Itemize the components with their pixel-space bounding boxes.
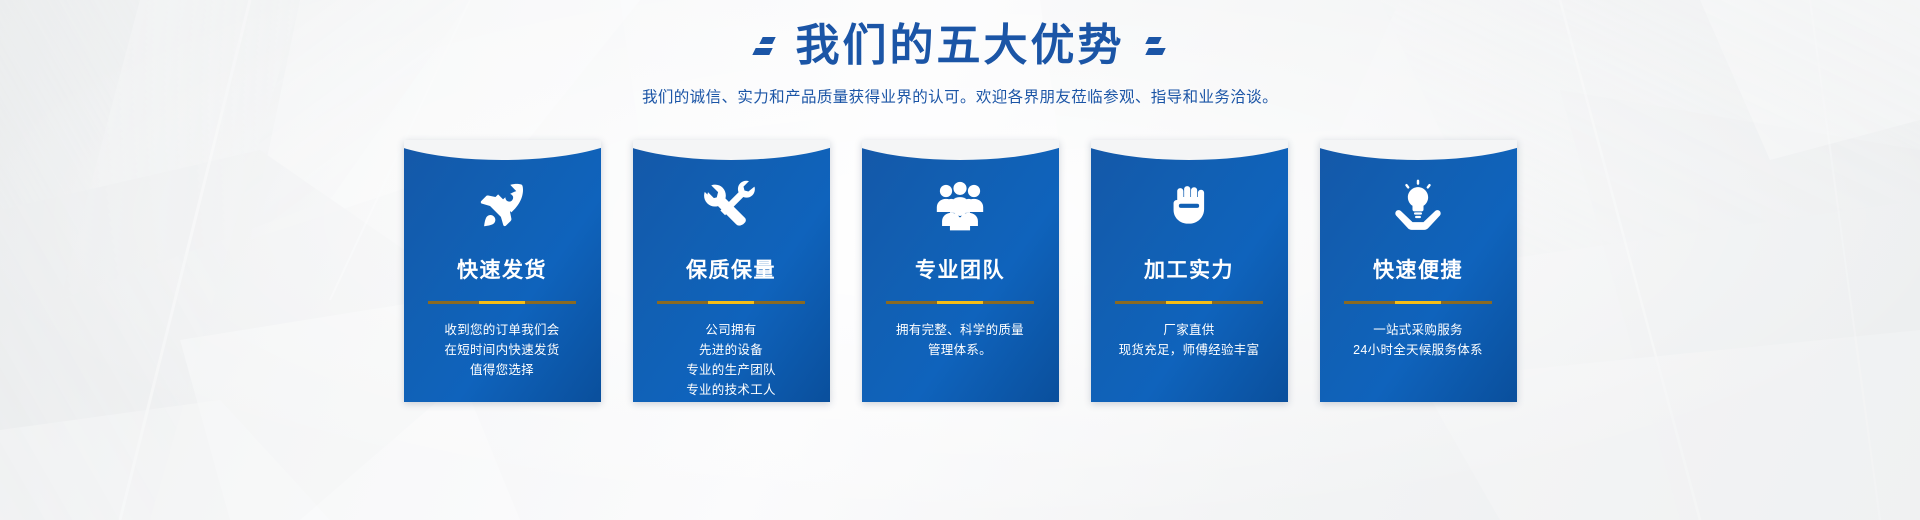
card-description-line: 专业的技术工人 [686,380,776,400]
advantage-card-list: 快速发货 收到您的订单我们会 在短时间内快速发货 值得您选择 [0,140,1920,402]
card-description-line: 在短时间内快速发货 [444,340,559,360]
double-slash-icon [1147,37,1167,55]
advantage-card-professional-team[interactable]: 专业团队 拥有完整、科学的质量 管理体系。 [862,140,1059,402]
card-description-line: 厂家直供 [1119,320,1260,340]
advantage-card-processing-strength[interactable]: 加工实力 厂家直供 现货充足，师傅经验丰富 [1091,140,1288,402]
card-description: 厂家直供 现货充足，师傅经验丰富 [1119,320,1260,360]
card-divider [428,301,576,304]
card-description-line: 专业的生产团队 [686,360,776,380]
card-title: 专业团队 [915,254,1005,284]
fist-hand-icon [1160,176,1218,234]
card-title: 加工实力 [1144,254,1234,284]
card-divider [657,301,805,304]
title-row: 我们的五大优势 [0,0,1920,73]
team-people-icon [931,176,989,234]
card-description-line: 管理体系。 [896,340,1024,360]
advantage-card-quality-assurance[interactable]: 保质保量 公司拥有 先进的设备 专业的生产团队 专业的技术工人 [633,140,830,402]
card-description-line: 先进的设备 [686,340,776,360]
card-title: 保质保量 [686,254,776,284]
card-description-line: 收到您的订单我们会 [444,320,559,340]
card-divider [1344,301,1492,304]
page-title: 我们的五大优势 [796,18,1125,73]
header: 我们的五大优势 我们的诚信、实力和产品质量获得业界的认可。欢迎各界朋友莅临参观、… [0,0,1920,107]
card-divider [1115,301,1263,304]
card-title: 快速便捷 [1373,254,1463,284]
card-description-line: 24小时全天候服务体系 [1353,340,1483,360]
wrench-screwdriver-icon [702,176,760,234]
double-slash-icon [754,37,774,55]
rocket-icon [473,176,531,234]
advantage-card-fast-shipping[interactable]: 快速发货 收到您的订单我们会 在短时间内快速发货 值得您选择 [404,140,601,402]
hands-lightbulb-icon [1389,176,1447,234]
card-description-line: 拥有完整、科学的质量 [896,320,1024,340]
card-description: 一站式采购服务 24小时全天候服务体系 [1353,320,1483,360]
card-description-line: 公司拥有 [686,320,776,340]
card-title: 快速发货 [457,254,547,284]
card-description: 收到您的订单我们会 在短时间内快速发货 值得您选择 [444,320,559,380]
card-top-notch [633,140,830,160]
card-description: 拥有完整、科学的质量 管理体系。 [896,320,1024,360]
page-subtitle: 我们的诚信、实力和产品质量获得业界的认可。欢迎各界朋友莅临参观、指导和业务洽谈。 [0,85,1920,107]
card-description-line: 现货充足，师傅经验丰富 [1119,340,1260,360]
card-divider [886,301,1034,304]
card-top-notch [862,140,1059,160]
card-description: 公司拥有 先进的设备 专业的生产团队 专业的技术工人 [686,320,776,400]
card-description-line: 值得您选择 [444,360,559,380]
card-description-line: 一站式采购服务 [1353,320,1483,340]
advantage-card-fast-convenient[interactable]: 快速便捷 一站式采购服务 24小时全天候服务体系 [1320,140,1517,402]
card-top-notch [404,140,601,160]
promo-banner: 我们的五大优势 我们的诚信、实力和产品质量获得业界的认可。欢迎各界朋友莅临参观、… [0,0,1920,520]
card-top-notch [1320,140,1517,160]
card-top-notch [1091,140,1288,160]
